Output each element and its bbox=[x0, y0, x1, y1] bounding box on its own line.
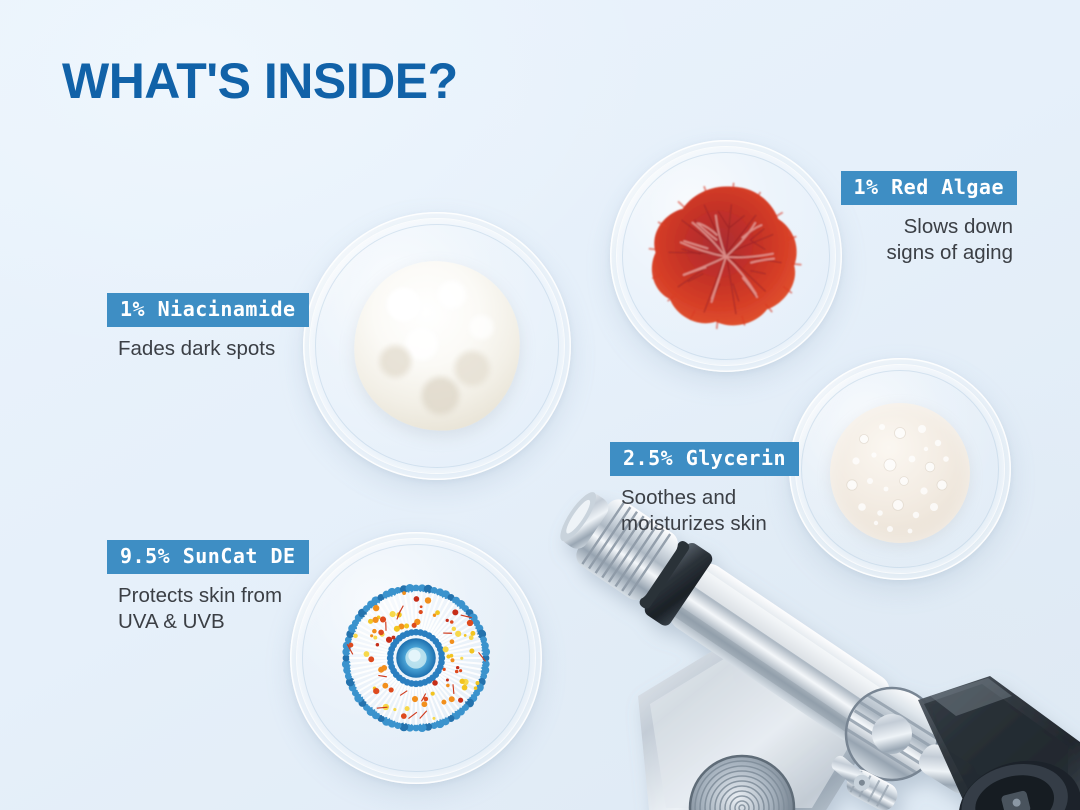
ingredient-description-niacinamide: Fades dark spots bbox=[107, 336, 309, 362]
dish-rim-highlight bbox=[290, 532, 542, 784]
ingredient-badge-glycerin: 2.5% Glycerin bbox=[610, 442, 799, 476]
ingredient-label-suncat-de: 9.5% SunCat DE Protects skin from UVA & … bbox=[107, 540, 309, 635]
liposome-diagram-sample bbox=[340, 582, 492, 734]
page-title: WHAT'S INSIDE? bbox=[62, 52, 458, 110]
petri-dish-niacinamide bbox=[303, 212, 571, 480]
dish-rim-highlight bbox=[303, 212, 571, 480]
microscope bbox=[520, 490, 1080, 810]
dish-rim-highlight bbox=[610, 140, 842, 372]
petri-dish-red-algae bbox=[610, 140, 842, 372]
ingredient-label-niacinamide: 1% Niacinamide Fades dark spots bbox=[107, 293, 309, 362]
ingredient-badge-red-algae: 1% Red Algae bbox=[841, 171, 1018, 205]
poster-canvas: WHAT'S INSIDE? bbox=[0, 0, 1080, 810]
petri-dish-suncat bbox=[290, 532, 542, 784]
ingredient-label-red-algae: 1% Red Algae Slows down signs of aging bbox=[841, 171, 1018, 266]
ingredient-badge-suncat-de: 9.5% SunCat DE bbox=[107, 540, 309, 574]
ingredient-label-glycerin: 2.5% Glycerin Soothes and moisturizes sk… bbox=[610, 442, 799, 537]
gel-bubbles bbox=[830, 403, 970, 543]
red-algae-sample bbox=[638, 172, 813, 340]
petri-dish-glycerin bbox=[789, 358, 1011, 580]
white-powder-sample bbox=[348, 255, 525, 436]
ingredient-description-suncat-de: Protects skin from UVA & UVB bbox=[107, 583, 309, 635]
glycerin-gel-sample bbox=[830, 403, 970, 543]
dish-rim-highlight bbox=[789, 358, 1011, 580]
ingredient-description-red-algae: Slows down signs of aging bbox=[841, 214, 1018, 266]
ingredient-description-glycerin: Soothes and moisturizes skin bbox=[610, 485, 799, 537]
ingredient-badge-niacinamide: 1% Niacinamide bbox=[107, 293, 309, 327]
